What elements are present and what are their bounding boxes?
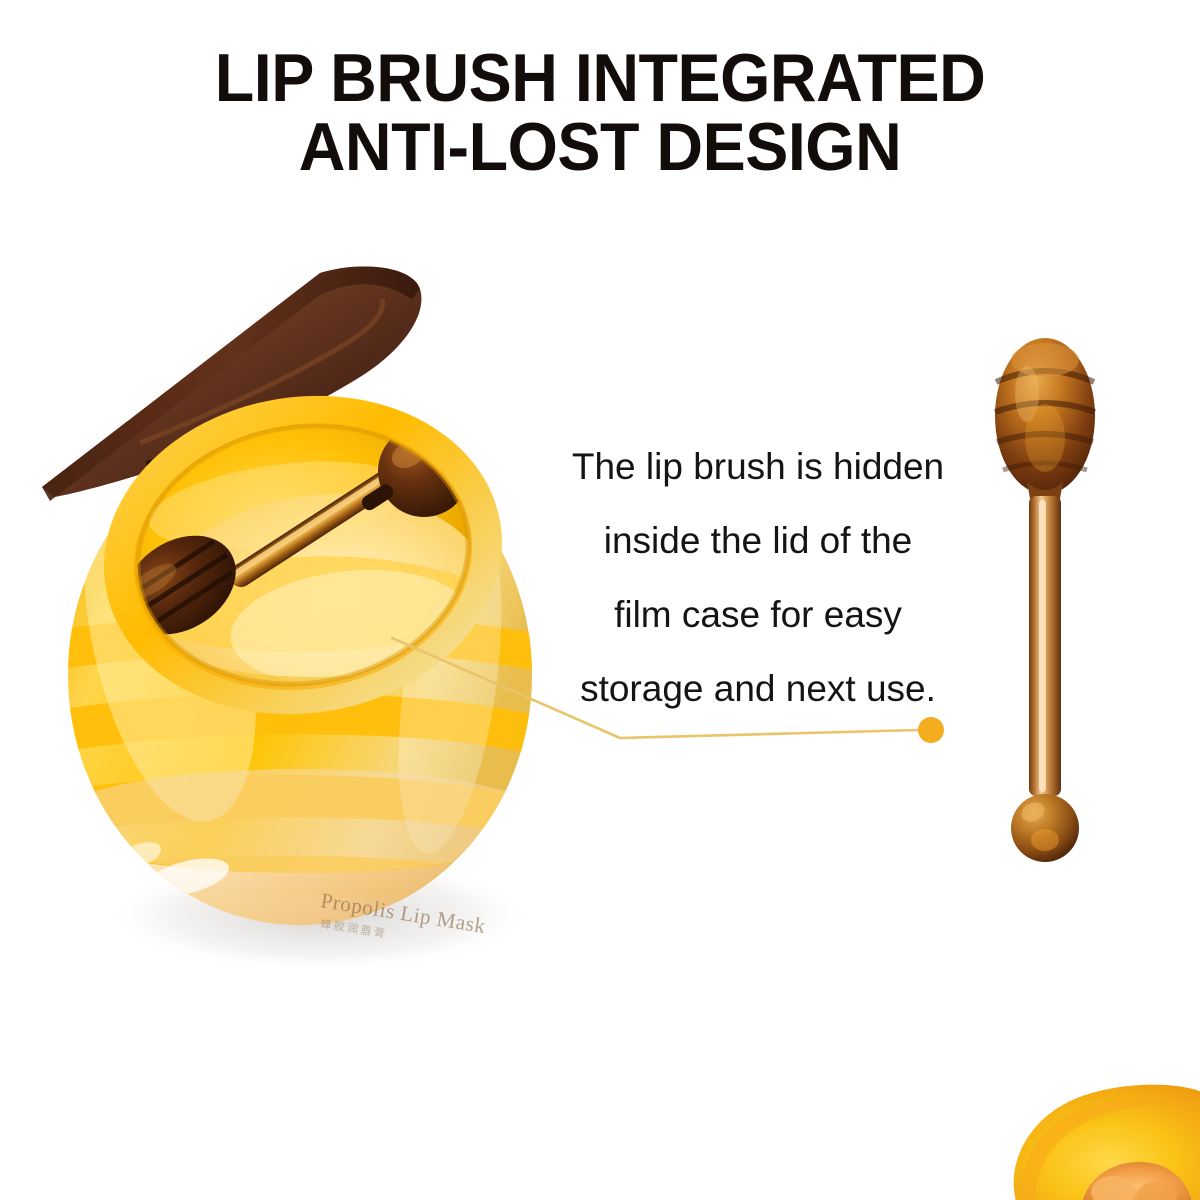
lip-brush-illustration — [965, 320, 1125, 900]
body-line-2: inside the lid of the — [548, 504, 968, 578]
brush-ball — [1011, 794, 1079, 862]
honey-blob-illustration — [985, 1080, 1200, 1200]
page-title: LIP BRUSH INTEGRATED ANTI-LOST DESIGN — [30, 44, 1170, 183]
body-line-4: storage and next use. — [548, 652, 968, 726]
headline-line-1: LIP BRUSH INTEGRATED — [30, 44, 1170, 113]
poster-canvas: LIP BRUSH INTEGRATED ANTI-LOST DESIGN — [0, 0, 1200, 1200]
product-photo-open-jar: Propolis Lip Mask 蜂胶润唇膏 — [20, 255, 580, 995]
jar-illustration: Propolis Lip Mask 蜂胶润唇膏 — [20, 255, 580, 995]
feature-description: The lip brush is hidden inside the lid o… — [548, 430, 968, 726]
body-line-1: The lip brush is hidden — [548, 430, 968, 504]
product-photo-lip-brush-stick — [965, 320, 1125, 900]
brush-head — [995, 338, 1095, 504]
corner-honey-blob — [985, 1080, 1200, 1200]
body-line-3: film case for easy — [548, 578, 968, 652]
brush-shaft — [1029, 496, 1061, 796]
headline-line-2: ANTI-LOST DESIGN — [30, 113, 1170, 182]
